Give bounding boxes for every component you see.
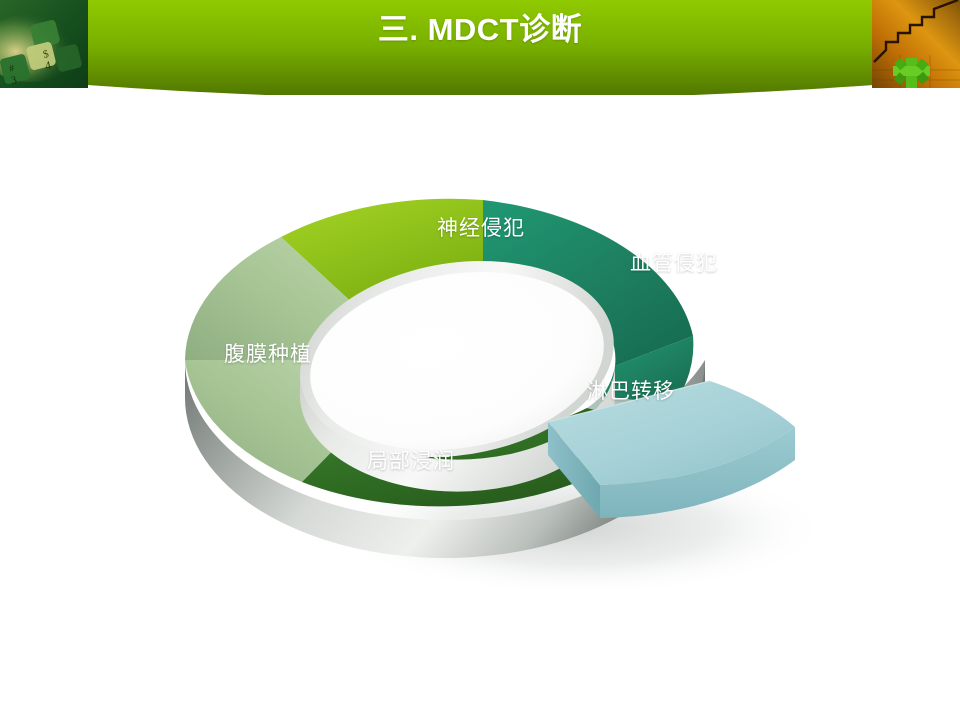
- header-left-image: $ 4 # 3: [0, 0, 88, 88]
- header-background: $ 4 # 3: [0, 0, 960, 95]
- header-band-shape: [0, 0, 960, 95]
- slide-canvas: $ 4 # 3: [0, 0, 960, 720]
- doughnut-chart-graphic: [150, 130, 870, 600]
- doughnut-chart: 神经侵犯 血管侵犯 淋巴转移 局部浸润 腹膜种植: [150, 130, 870, 600]
- header-right-image: [872, 0, 960, 88]
- slide-header: $ 4 # 3: [0, 0, 960, 95]
